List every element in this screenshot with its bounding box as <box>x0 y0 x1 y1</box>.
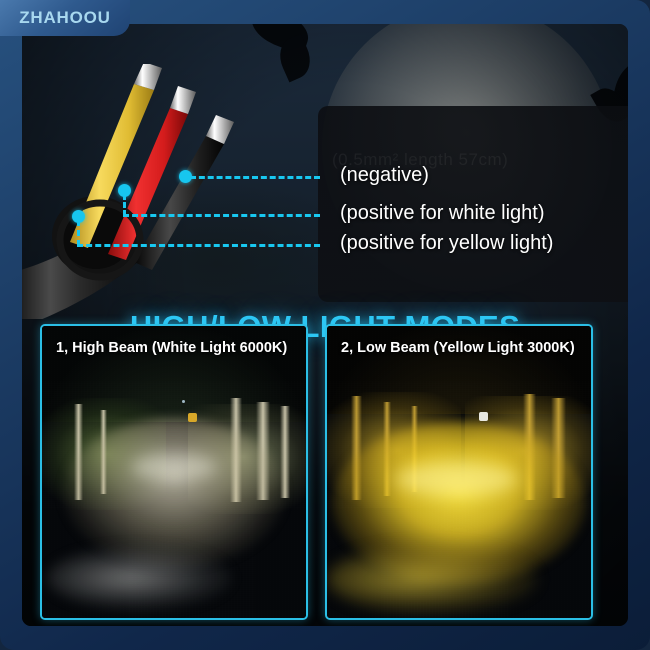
low-beam-panel: 2, Low Beam (Yellow Light 3000K) <box>325 324 593 620</box>
black-wire-marker-dot <box>179 170 192 183</box>
leader-drop-yellow <box>77 220 80 246</box>
yellow-wire-marker-dot <box>72 210 85 223</box>
high-beam-photo <box>42 326 306 618</box>
brand-watermark-badge: ZHAHOOU <box>0 0 130 36</box>
label-positive-yellow: (positive for yellow light) <box>340 232 553 255</box>
wire-harness-illustration <box>22 64 272 319</box>
label-positive-white: (positive for white light) <box>340 202 545 225</box>
leader-line-positive-yellow <box>77 244 320 247</box>
high-beam-panel: 1, High Beam (White Light 6000K) <box>40 324 308 620</box>
low-beam-photo <box>327 326 591 618</box>
brand-name: ZHAHOOU <box>19 8 111 28</box>
product-infographic: (0.5mm² length 57cm) (negative) (positiv… <box>0 0 650 650</box>
leader-line-negative <box>190 176 320 179</box>
wire-label-group: (negative) (positive for white light) (p… <box>318 106 628 302</box>
leader-drop-white <box>123 194 126 216</box>
leader-line-positive-white <box>123 214 320 217</box>
photo-grain <box>42 326 306 618</box>
night-scene-background: (0.5mm² length 57cm) (negative) (positiv… <box>22 24 628 626</box>
red-wire-marker-dot <box>118 184 131 197</box>
photo-grain <box>327 326 591 618</box>
label-negative: (negative) <box>340 164 429 187</box>
